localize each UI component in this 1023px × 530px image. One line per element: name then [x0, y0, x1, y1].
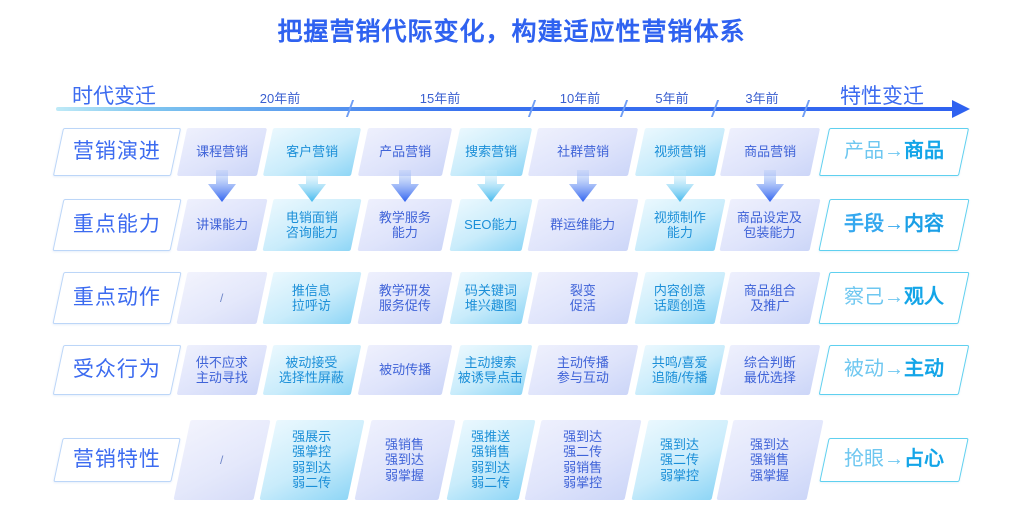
matrix-cell[interactable]: 供不应求 主动寻找 [177, 345, 268, 395]
matrix-cell-label: 强推送 强销售 弱到达 弱二传 [468, 429, 513, 490]
row-header-3[interactable]: 重点动作 [52, 272, 181, 324]
matrix-row: 营销特性/强展示 强掌控 弱到达 弱二传强销售 强到达 弱掌握强推送 强销售 弱… [0, 420, 1023, 500]
matrix-cell-label: 强展示 强掌控 弱到达 弱二传 [289, 429, 334, 490]
matrix-cell[interactable]: 综合判断 最优选择 [720, 345, 821, 395]
row-header-2[interactable]: 重点能力 [52, 199, 181, 251]
row-summary-from: 察己→ [844, 286, 904, 308]
matrix-cell-label: 课程营销 [193, 144, 251, 159]
matrix-cell-label: 强到达 强销售 强掌握 [747, 437, 792, 483]
matrix-cell[interactable]: 被动传播 [358, 345, 453, 395]
row-header-4[interactable]: 受众行为 [53, 345, 182, 395]
matrix-cell-label: 教学研发 服务促传 [376, 283, 434, 314]
matrix-cell-label: 被动传播 [376, 362, 434, 377]
matrix-cell[interactable]: 教学服务 能力 [357, 199, 452, 251]
matrix-cell-label: 强到达 强二传 弱掌控 [657, 437, 702, 483]
matrix-row: 重点能力讲课能力电销面销 咨询能力教学服务 能力SEO能力群运维能力视频制作 能… [0, 199, 1023, 251]
row-summary-label: 察己→观人 [841, 286, 947, 310]
matrix-cell-label: 推信息 拉呼访 [289, 283, 334, 314]
row-header-label: 重点能力 [70, 213, 164, 238]
row-summary-label: 抢眼→占心 [841, 448, 947, 472]
matrix-cell-label: SEO能力 [461, 217, 520, 232]
matrix-cell-label: 强到达 强二传 弱销售 弱掌控 [560, 429, 605, 490]
row-summary-3[interactable]: 察己→观人 [818, 272, 969, 324]
matrix-cell[interactable]: 讲课能力 [176, 199, 267, 251]
matrix-cell[interactable]: 强展示 强掌控 弱到达 弱二传 [259, 420, 364, 500]
matrix-cell[interactable]: 推信息 拉呼访 [262, 272, 361, 324]
matrix-cell[interactable]: 主动搜索 被诱导点击 [450, 345, 533, 395]
matrix-cell[interactable]: 裂变 促活 [527, 272, 638, 324]
matrix-cell-label: 视频营销 [651, 144, 709, 159]
row-summary-2[interactable]: 手段→内容 [818, 199, 969, 251]
row-summary-to: 商品 [904, 140, 944, 162]
down-arrow-icon [207, 170, 237, 204]
row-summary-to: 内容 [904, 213, 944, 235]
matrix-row: 营销演进课程营销客户营销产品营销搜索营销社群营销视频营销商品营销产品→商品 [0, 128, 1023, 176]
row-header-1[interactable]: 营销演进 [53, 128, 181, 176]
matrix-cell-label: 被动接受 选择性屏蔽 [276, 355, 347, 386]
matrix-cell-label: 产品营销 [376, 144, 434, 159]
row-summary-label: 被动→主动 [841, 358, 947, 382]
matrix-cell-label: 教学服务 能力 [376, 210, 434, 241]
matrix-cell[interactable]: 共鸣/喜爱 追随/传播 [635, 345, 726, 395]
matrix-cell[interactable]: 商品设定及 包装能力 [719, 199, 820, 251]
down-arrow-icon [390, 170, 420, 204]
matrix-cell-label: 综合判断 最优选择 [741, 355, 799, 386]
matrix-cell[interactable]: SEO能力 [449, 199, 532, 251]
matrix-cell[interactable]: 教学研发 服务促传 [357, 272, 452, 324]
matrix-grid: 营销演进课程营销客户营销产品营销搜索营销社群营销视频营销商品营销产品→商品重点能… [0, 0, 1023, 530]
row-summary-1[interactable]: 产品→商品 [819, 128, 969, 176]
matrix-cell[interactable]: 内容创意 话题创造 [634, 272, 725, 324]
matrix-cell[interactable]: 课程营销 [177, 128, 267, 176]
matrix-cell-label: 客户营销 [283, 144, 341, 159]
matrix-cell[interactable]: 视频制作 能力 [634, 199, 725, 251]
matrix-cell[interactable]: 产品营销 [358, 128, 452, 176]
matrix-cell[interactable]: 电销面销 咨询能力 [262, 199, 361, 251]
matrix-cell-label: 内容创意 话题创造 [651, 283, 709, 314]
row-header-5[interactable]: 营销特性 [53, 438, 180, 482]
row-header-label: 营销演进 [70, 140, 164, 165]
matrix-cell-label: 商品营销 [741, 144, 799, 159]
down-arrow-icon [297, 170, 327, 204]
row-summary-to: 观人 [904, 286, 944, 308]
matrix-cell-label: 强销售 强到达 弱掌握 [382, 437, 427, 483]
matrix-cell-label: 主动搜索 被诱导点击 [455, 355, 526, 386]
matrix-cell-label: / [217, 453, 226, 467]
row-summary-from: 抢眼→ [844, 448, 904, 470]
row-header-label: 重点动作 [70, 286, 164, 311]
matrix-cell[interactable]: 视频营销 [635, 128, 725, 176]
down-arrow-icon [755, 170, 785, 204]
down-arrow-icon [665, 170, 695, 204]
row-summary-4[interactable]: 被动→主动 [819, 345, 970, 395]
matrix-cell-label: 搜索营销 [462, 144, 520, 159]
matrix-cell[interactable]: 社群营销 [528, 128, 638, 176]
row-header-label: 营销特性 [70, 448, 164, 473]
matrix-cell-label: 讲课能力 [193, 217, 251, 232]
matrix-cell-label: 社群营销 [554, 144, 612, 159]
matrix-cell-label: 商品设定及 包装能力 [734, 210, 805, 241]
matrix-cell-label: 共鸣/喜爱 追随/传播 [649, 355, 711, 386]
row-summary-label: 手段→内容 [841, 213, 947, 237]
row-summary-from: 被动→ [844, 358, 904, 380]
row-summary-5[interactable]: 抢眼→占心 [819, 438, 968, 482]
matrix-cell-label: 裂变 促活 [567, 283, 599, 314]
matrix-cell-label: / [217, 291, 226, 305]
matrix-cell[interactable]: 群运维能力 [527, 199, 638, 251]
matrix-cell[interactable]: 主动传播 参与互动 [528, 345, 639, 395]
matrix-cell[interactable]: / [176, 272, 267, 324]
row-summary-to: 主动 [904, 358, 944, 380]
matrix-cell[interactable]: 码关键词 堆兴趣图 [449, 272, 532, 324]
row-summary-from: 产品→ [844, 140, 904, 162]
matrix-cell-label: 群运维能力 [547, 217, 618, 232]
matrix-cell[interactable]: 强到达 强二传 弱销售 弱掌控 [524, 420, 641, 500]
matrix-cell-label: 主动传播 参与互动 [554, 355, 612, 386]
matrix-cell-label: 视频制作 能力 [651, 210, 709, 241]
matrix-cell[interactable]: 强销售 强到达 弱掌握 [354, 420, 455, 500]
matrix-cell[interactable]: 商品营销 [720, 128, 820, 176]
matrix-cell[interactable]: 强推送 强销售 弱到达 弱二传 [446, 420, 535, 500]
matrix-cell[interactable]: 强到达 强二传 弱掌控 [631, 420, 728, 500]
row-summary-label: 产品→商品 [841, 140, 947, 164]
matrix-row: 受众行为供不应求 主动寻找被动接受 选择性屏蔽被动传播主动搜索 被诱导点击主动传… [0, 345, 1023, 395]
row-summary-from: 手段→ [844, 213, 904, 235]
row-summary-to: 占心 [904, 448, 944, 470]
matrix-row: 重点动作/推信息 拉呼访教学研发 服务促传码关键词 堆兴趣图裂变 促活内容创意 … [0, 272, 1023, 324]
matrix-cell-label: 供不应求 主动寻找 [193, 355, 251, 386]
down-arrow-icon [476, 170, 506, 204]
matrix-cell-label: 码关键词 堆兴趣图 [462, 283, 520, 314]
matrix-cell[interactable]: 客户营销 [263, 128, 361, 176]
matrix-cell-label: 电销面销 咨询能力 [283, 210, 341, 241]
matrix-cell[interactable]: / [173, 420, 270, 500]
matrix-cell[interactable]: 搜索营销 [450, 128, 532, 176]
matrix-cell[interactable]: 强到达 强销售 强掌握 [716, 420, 823, 500]
matrix-cell[interactable]: 商品组合 及推广 [719, 272, 820, 324]
down-arrow-icon [568, 170, 598, 204]
matrix-cell[interactable]: 被动接受 选择性屏蔽 [263, 345, 362, 395]
matrix-cell-label: 商品组合 及推广 [741, 283, 799, 314]
row-header-label: 受众行为 [70, 358, 164, 383]
